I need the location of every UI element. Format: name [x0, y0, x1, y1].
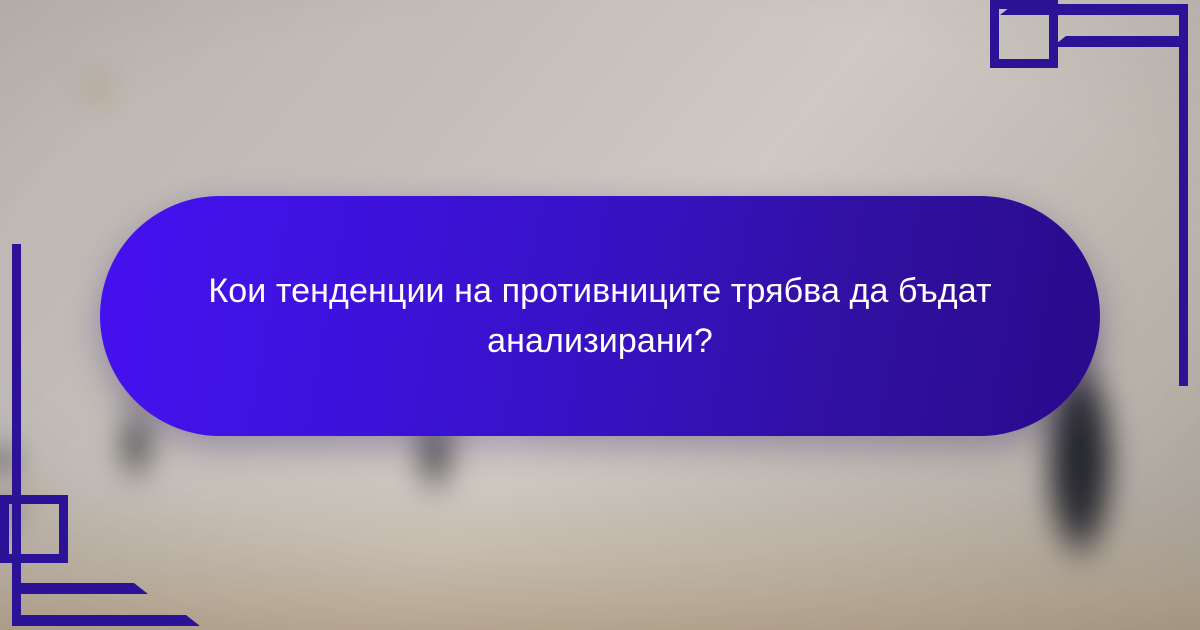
ornament-bar-long-icon — [12, 615, 200, 626]
ornament-square-icon — [0, 495, 68, 563]
ornament-bar-short-icon — [12, 583, 148, 594]
corner-ornament-bottom-left — [0, 495, 210, 630]
question-card-canvas: Кои тенденции на противниците трябва да … — [0, 0, 1200, 630]
ornament-bar-short-icon — [1052, 36, 1188, 47]
question-pill: Кои тенденции на противниците трябва да … — [100, 196, 1100, 436]
question-text: Кои тенденции на противниците трябва да … — [200, 266, 1000, 367]
ornament-bar-long-icon — [1000, 4, 1188, 15]
ornament-vertical-line-icon — [12, 244, 21, 626]
ornament-vertical-line-icon — [1179, 4, 1188, 386]
corner-ornament-top-right — [990, 0, 1200, 135]
